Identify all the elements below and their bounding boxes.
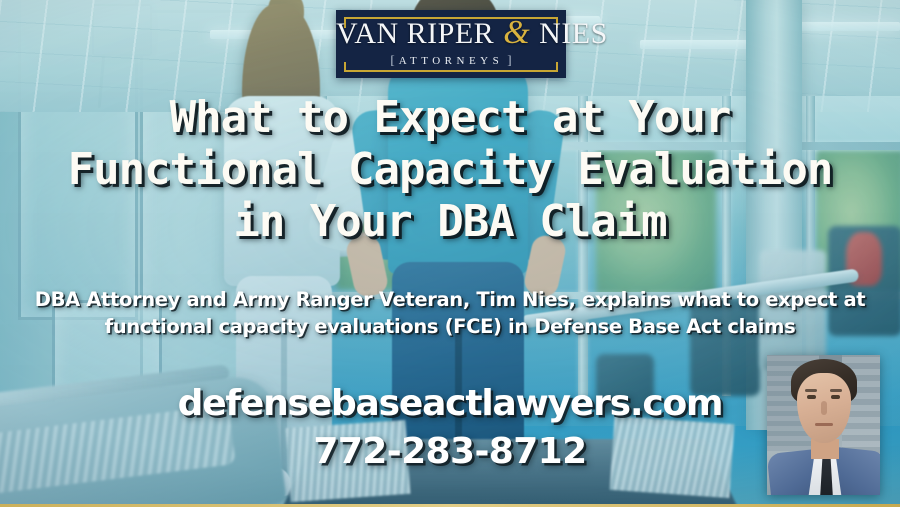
subheadline-line-2: functional capacity evaluations (FCE) in… [24, 313, 876, 340]
eyebrow-right [830, 389, 842, 392]
nose [821, 401, 827, 415]
attorney-headshot [767, 355, 880, 495]
subheadline: DBA Attorney and Army Ranger Veteran, Ti… [0, 286, 900, 340]
logo-firm-name-part1: V [336, 17, 354, 50]
headline-line-2: Functional Capacity Evaluation [14, 144, 886, 196]
headline-line-3: in Your DBA Claim [14, 196, 886, 248]
logo-firm-name: VAN RIPER & NIES [336, 16, 566, 51]
brand-logo[interactable]: VAN RIPER & NIES [ATTORNEYS] [336, 10, 566, 78]
phone-number[interactable]: 772-283-8712 [0, 430, 900, 474]
logo-firm-name-part2: AN [354, 17, 406, 50]
subheadline-line-1: DBA Attorney and Army Ranger Veteran, Ti… [24, 286, 876, 313]
website-url[interactable]: defensebaseactlawyers.com [0, 382, 900, 426]
contact-block: defensebaseactlawyers.com 772-283-8712 [0, 382, 900, 474]
logo-firm-name-part5: N [531, 17, 561, 50]
headline: What to Expect at Your Functional Capaci… [0, 92, 900, 248]
logo-firm-name-part4: IPER [427, 17, 502, 50]
logo-firm-name-part6: IES [561, 17, 608, 50]
logo-bracket-right: ] [503, 52, 515, 67]
eyebrow-left [805, 389, 817, 392]
logo-subtitle-row: [ATTORNEYS] [336, 52, 566, 68]
logo-ampersand: & [502, 14, 531, 51]
eye-right [831, 395, 840, 399]
eye-left [807, 395, 816, 399]
video-thumbnail: VAN RIPER & NIES [ATTORNEYS] What to Exp… [0, 0, 900, 507]
logo-subtitle: ATTORNEYS [399, 55, 503, 67]
mouth [815, 423, 833, 426]
logo-firm-name-part3: R [407, 17, 428, 50]
logo-bracket-left: [ [386, 52, 398, 67]
headline-line-1: What to Expect at Your [14, 92, 886, 144]
